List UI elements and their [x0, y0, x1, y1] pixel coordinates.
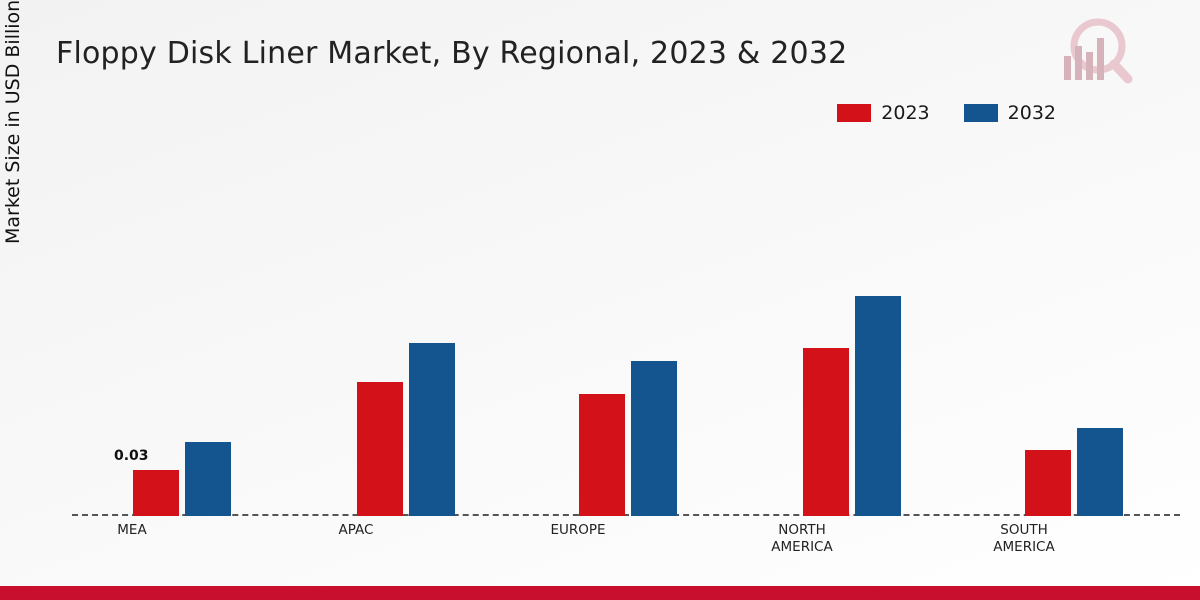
- x-axis-label-europe: EUROPE: [478, 522, 678, 539]
- legend-swatch-2032: [964, 104, 998, 122]
- bar-group-apac: [356, 140, 456, 516]
- x-axis-label-south-america-line2: AMERICA: [924, 539, 1124, 556]
- legend-item-2032[interactable]: 2032: [964, 102, 1056, 124]
- x-axis-label-south-america-line1: SOUTH: [924, 522, 1124, 539]
- bar-europe-2032[interactable]: [631, 361, 677, 516]
- x-axis-label-south-america: SOUTH AMERICA: [924, 522, 1124, 556]
- legend-label-2023: 2023: [881, 102, 929, 124]
- y-axis-title: Market Size in USD Billion: [2, 0, 24, 244]
- x-axis-label-north-america: NORTH AMERICA: [702, 522, 902, 556]
- plot-area: 0.03: [72, 140, 1180, 516]
- x-axis-label-apac: APAC: [256, 522, 456, 539]
- x-axis-label-north-america-line1: NORTH: [702, 522, 902, 539]
- value-label-mea-2023: 0.03: [114, 448, 149, 464]
- bar-group-north-america: [802, 140, 902, 516]
- x-axis-label-europe-line1: EUROPE: [478, 522, 678, 539]
- x-axis-label-apac-line1: APAC: [256, 522, 456, 539]
- legend-label-2032: 2032: [1008, 102, 1056, 124]
- bar-group-europe: [578, 140, 678, 516]
- x-axis-label-north-america-line2: AMERICA: [702, 539, 902, 556]
- bar-group-south-america: [1024, 140, 1124, 516]
- bar-apac-2032[interactable]: [409, 343, 455, 516]
- bar-mea-2032[interactable]: [185, 442, 231, 516]
- x-axis-label-mea-line1: MEA: [32, 522, 232, 539]
- bar-europe-2023[interactable]: [579, 394, 625, 516]
- bar-south-america-2032[interactable]: [1077, 428, 1123, 516]
- legend-item-2023[interactable]: 2023: [837, 102, 929, 124]
- page-title: Floppy Disk Liner Market, By Regional, 2…: [56, 36, 847, 71]
- bar-mea-2023[interactable]: [133, 470, 179, 516]
- chart-page: Floppy Disk Liner Market, By Regional, 2…: [0, 0, 1200, 600]
- magnifier-bar-chart-logo-icon: [1042, 16, 1138, 92]
- bar-south-america-2023[interactable]: [1025, 450, 1071, 516]
- bar-apac-2023[interactable]: [357, 382, 403, 516]
- x-axis-label-mea: MEA: [32, 522, 232, 539]
- bar-north-america-2023[interactable]: [803, 348, 849, 516]
- bar-north-america-2032[interactable]: [855, 296, 901, 516]
- legend-swatch-2023: [837, 104, 871, 122]
- chart-legend: 2023 2032: [837, 102, 1056, 124]
- bottom-accent-bar: [0, 586, 1200, 600]
